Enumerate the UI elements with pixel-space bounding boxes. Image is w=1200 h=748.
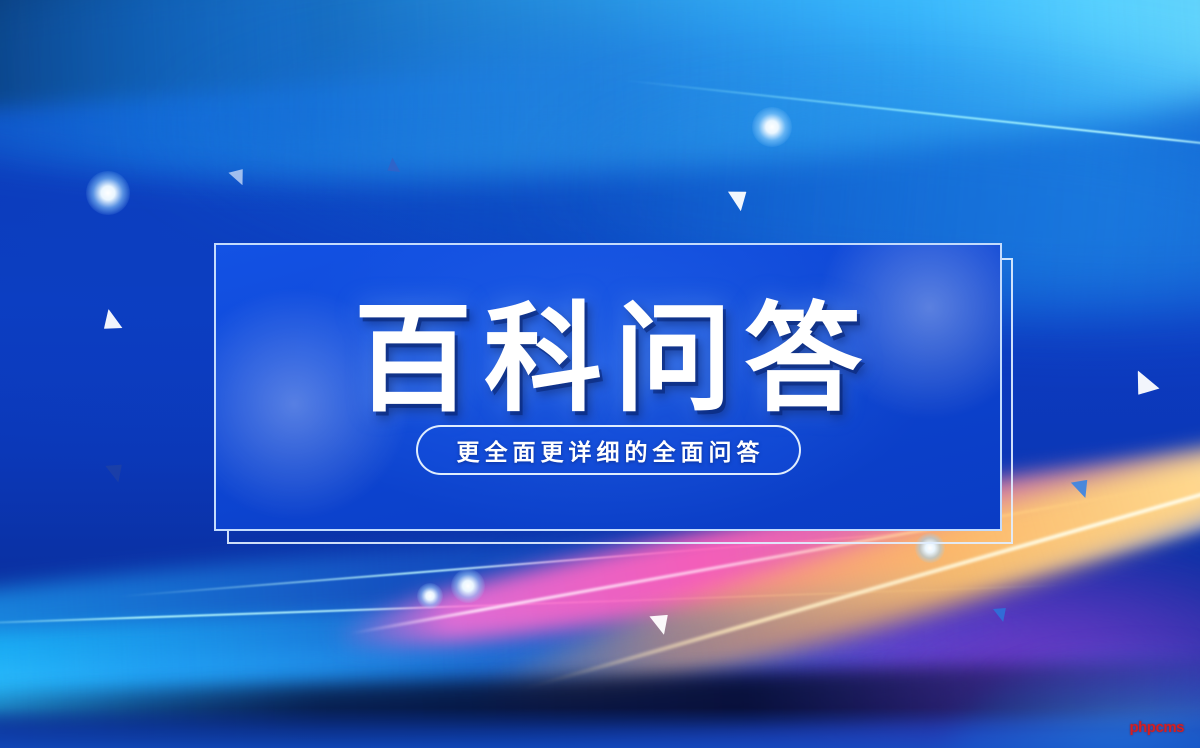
content-panel (214, 243, 1002, 531)
panel-sheen (216, 245, 1000, 529)
bottom-blue-bar (0, 708, 1200, 748)
poster-canvas: 百科问答 更全面更详细的全面问答 phpcms (0, 0, 1200, 748)
watermark-label: phpcms (1129, 719, 1184, 736)
